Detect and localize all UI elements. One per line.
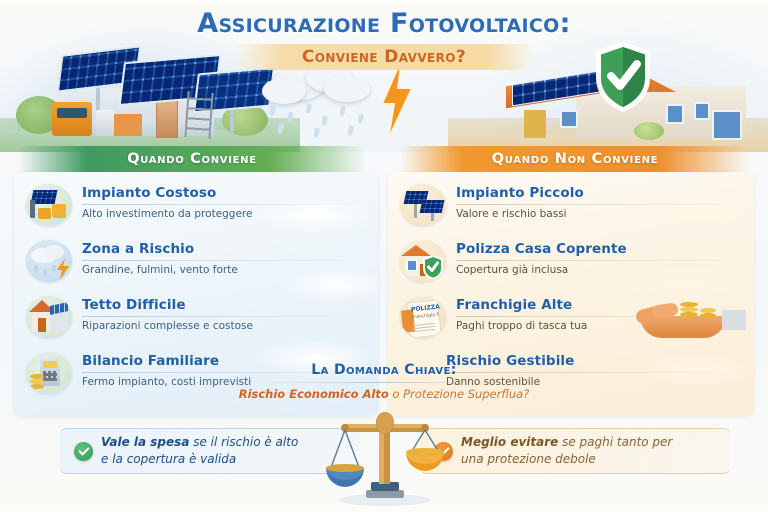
ladder-icon <box>184 91 213 139</box>
raindrop-icon <box>347 126 354 137</box>
key-question-subtitle: Rischio Economico Alto o Protezione Supe… <box>238 387 530 401</box>
policy-document-icon: POLIZZA Franchigia € <box>400 296 446 338</box>
banner-label-right: Quando Non Conviene <box>492 151 658 167</box>
cloud-shape <box>324 76 370 102</box>
bush-icon <box>634 122 664 140</box>
house-with-solar-illustration <box>516 58 746 138</box>
raindrop-icon <box>305 104 312 115</box>
raindrop-icon <box>287 112 294 123</box>
banner-label-left: Quando Conviene <box>127 151 257 167</box>
lightning-bolt-icon <box>376 58 416 140</box>
list-item-text: Tetto Difficile Riparazioni complesse e … <box>82 296 368 332</box>
raindrop-icon <box>321 116 328 127</box>
conclusion-negative-rest: se paghi tanto per <box>558 435 672 449</box>
hand-coins-icon <box>630 296 750 348</box>
inverter-icon <box>52 102 92 136</box>
subtitle-band: Conviene Davvero? <box>234 44 534 70</box>
list-item-title: Polizza Casa Coprente <box>456 241 744 257</box>
check-circle-green-icon <box>74 442 93 461</box>
list-item-title: Impianto Costoso <box>82 185 368 201</box>
house-window <box>666 104 684 124</box>
page-subtitle: Conviene Davvero? <box>302 47 466 67</box>
house-window <box>712 110 742 140</box>
cloud-shape <box>262 78 306 104</box>
conclusion-positive: Vale la spesa se il rischio è alto e la … <box>60 428 360 474</box>
conclusion-negative: Meglio evitare se paghi tanto per una pr… <box>420 428 730 474</box>
key-question-block: La Domanda Chiave: Rischio Economico Alt… <box>238 362 530 401</box>
list-item-desc: Grandine, fulmini, vento forte <box>82 264 368 276</box>
list-item[interactable]: Impianto Piccolo Valore e rischio bassi <box>388 178 754 234</box>
list-item-desc: Copertura già inclusa <box>456 264 744 276</box>
divider <box>82 316 368 317</box>
house-door <box>524 110 546 138</box>
page-title: Assicurazione Fotovoltaico: <box>0 8 768 39</box>
list-item-title: Impianto Piccolo <box>456 185 744 201</box>
list-item-title: Zona a Rischio <box>82 241 368 257</box>
list-item-desc: Alto investimento da proteggere <box>82 208 368 220</box>
conclusion-positive-line2: e la copertura è valida <box>101 452 236 466</box>
solar-panel-money-icon <box>26 184 72 226</box>
raindrop-icon <box>277 124 284 135</box>
raindrop-icon <box>339 106 346 117</box>
divider <box>456 260 744 261</box>
key-question-mid: o <box>389 387 403 401</box>
balance-scales-icon <box>322 408 448 508</box>
conclusion-positive-text: Vale la spesa se il rischio è alto e la … <box>101 434 298 469</box>
list-item-text: Impianto Costoso Alto investimento da pr… <box>82 184 368 220</box>
building-accent <box>112 114 142 136</box>
section-banner-quando-conviene: Quando Conviene <box>18 146 366 172</box>
list-item-desc: Riparazioni complesse e costose <box>82 320 368 332</box>
conclusion-positive-rest: se il rischio è alto <box>189 435 298 449</box>
divider <box>82 204 368 205</box>
list-item[interactable]: Zona a Rischio Grandine, fulmini, vento … <box>14 234 378 290</box>
hero-illustration: Assicurazione Fotovoltaico: Conviene Dav… <box>0 0 768 152</box>
house-window <box>560 110 578 128</box>
key-question-bold: Rischio Economico Alto <box>239 387 389 401</box>
list-item-text: Impianto Piccolo Valore e rischio bassi <box>456 184 744 220</box>
list-item-desc: Valore e rischio bassi <box>456 208 744 220</box>
conclusion-negative-text: Meglio evitare se paghi tanto per una pr… <box>461 434 672 469</box>
conclusion-positive-bold: Vale la spesa <box>101 435 189 449</box>
divider <box>456 204 744 205</box>
house-shield-check-icon <box>400 240 446 282</box>
raindrop-icon <box>313 128 320 139</box>
list-item[interactable]: Tetto Difficile Riparazioni complesse e … <box>14 290 378 346</box>
list-item[interactable]: Impianto Costoso Alto investimento da pr… <box>14 178 378 234</box>
list-item[interactable]: Polizza Casa Coprente Copertura già incl… <box>388 234 754 290</box>
calculator-coins-icon <box>26 352 72 394</box>
raindrop-icon <box>269 106 276 117</box>
key-question-italic: Protezione Superflua? <box>403 387 529 401</box>
list-item-title: Tetto Difficile <box>82 297 368 313</box>
header-block: Assicurazione Fotovoltaico: Conviene Dav… <box>0 8 768 70</box>
key-question-title: La Domanda Chiave: <box>238 362 530 378</box>
conclusion-negative-bold: Meglio evitare <box>461 435 558 449</box>
conclusion-negative-line2: una protezione debole <box>461 452 596 466</box>
section-banner-quando-non-conviene: Quando Non Conviene <box>400 146 750 172</box>
house-window <box>694 102 710 120</box>
list-item-text: Zona a Rischio Grandine, fulmini, vento … <box>82 240 368 276</box>
list-item-text: Polizza Casa Coprente Copertura già incl… <box>456 240 744 276</box>
house-roof-panels-icon <box>26 296 72 338</box>
divider <box>256 382 512 383</box>
small-solar-array-icon <box>400 184 446 226</box>
infographic-poster: Assicurazione Fotovoltaico: Conviene Dav… <box>0 0 768 512</box>
divider <box>82 260 368 261</box>
battery-icon <box>96 110 114 136</box>
raindrop-icon <box>357 114 364 125</box>
storm-cloud-group <box>262 62 392 138</box>
storm-cloud-lightning-icon <box>26 240 72 282</box>
